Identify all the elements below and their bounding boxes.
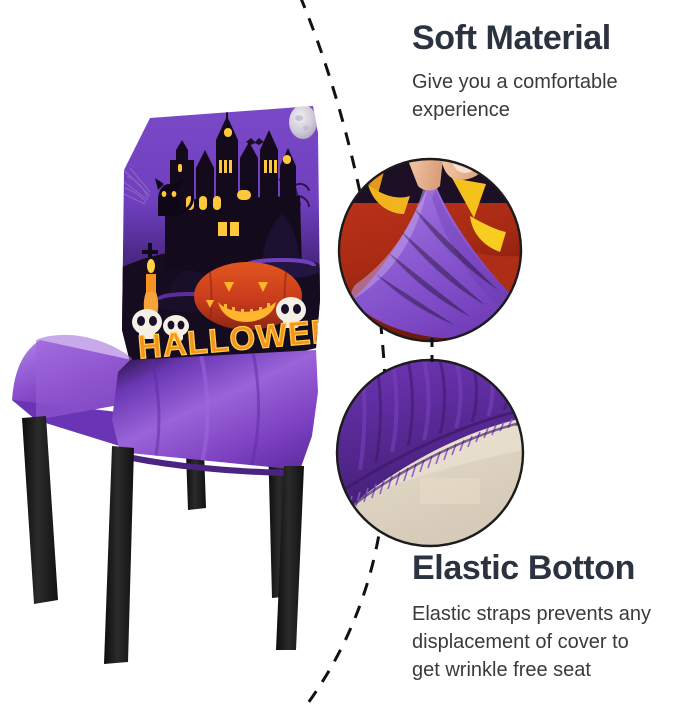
jack-o-lantern-icon: [194, 262, 302, 330]
soft-material-description: Give you a comfortable experience: [412, 68, 662, 124]
elastic-bottom-heading: Elastic Botton: [412, 548, 635, 588]
halloween-wordmark: HALLOWEEN: [136, 309, 360, 365]
skull-icons: [132, 297, 306, 341]
bare-tree-icon: [280, 168, 309, 206]
chair-seat: [12, 335, 132, 452]
witch-hat-icon: [238, 214, 322, 278]
spiderweb-icon: [124, 168, 150, 204]
chair-cover-skirt: [112, 348, 318, 476]
candle-icon: [144, 259, 159, 318]
black-cat-icon: [155, 178, 193, 216]
soft-material-heading: Soft Material: [412, 18, 611, 58]
ground-silhouette: [118, 249, 322, 366]
infographic-canvas: HALLOWEEN: [0, 0, 679, 706]
elastic-bottom-description: Elastic straps prevents any displacement…: [412, 600, 662, 684]
bats-icon: [246, 138, 276, 152]
castle-windows: [178, 128, 291, 236]
svg-text:HALLOWEEN: HALLOWEEN: [136, 309, 360, 365]
full-moon-icon: [289, 105, 317, 139]
chair-legs-front: [22, 416, 304, 664]
chair-back-print: HALLOWEEN: [118, 105, 360, 366]
black-top-hat-icon: [150, 270, 230, 312]
haunted-castle-icon: [165, 108, 302, 272]
gravestone-cross-icon: [142, 243, 158, 271]
jack-o-lantern-face: [206, 282, 294, 322]
chair-legs-rear: [186, 438, 292, 598]
